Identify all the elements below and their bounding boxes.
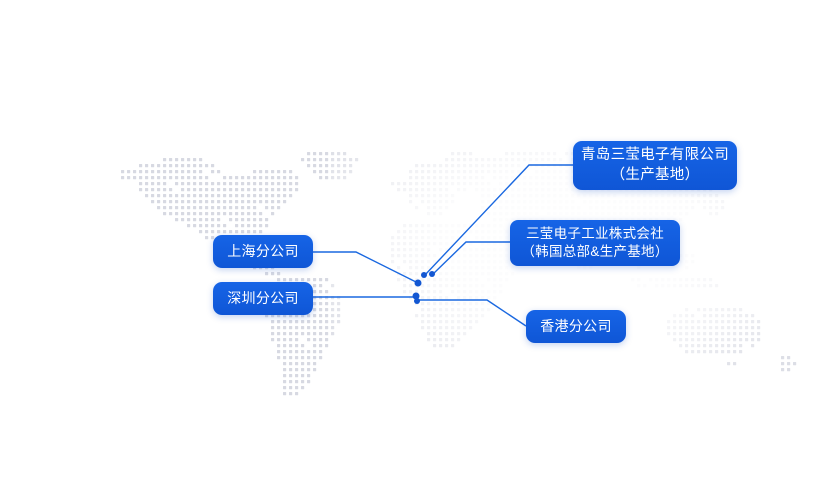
marker-shanghai[interactable] [415,280,422,287]
label-qingdao-line1: 青岛三莹电子有限公司 [581,146,729,165]
world-map [0,0,824,480]
label-shenzhen-line1: 深圳分公司 [227,289,299,307]
marker-qingdao[interactable] [421,272,427,278]
map-infographic: 青岛三莹电子有限公司 （生产基地） 三莹电子工业株式会社 （韩国总部&生产基地）… [0,0,824,480]
label-korea-line2: （韩国总部&生产基地） [521,243,668,261]
label-hongkong-line1: 香港分公司 [540,317,612,335]
world-map-dots [0,0,824,480]
label-korea-line1: 三莹电子工业株式会社 [526,225,664,243]
label-korea[interactable]: 三莹电子工业株式会社 （韩国总部&生产基地） [510,220,680,266]
label-hongkong[interactable]: 香港分公司 [526,310,626,343]
label-qingdao-line2: （生产基地） [611,166,700,185]
marker-korea[interactable] [429,271,435,277]
marker-hongkong[interactable] [414,298,420,304]
label-shanghai-line1: 上海分公司 [227,242,299,260]
label-qingdao[interactable]: 青岛三莹电子有限公司 （生产基地） [573,141,737,190]
label-shenzhen[interactable]: 深圳分公司 [213,282,313,315]
label-shanghai[interactable]: 上海分公司 [213,235,313,268]
